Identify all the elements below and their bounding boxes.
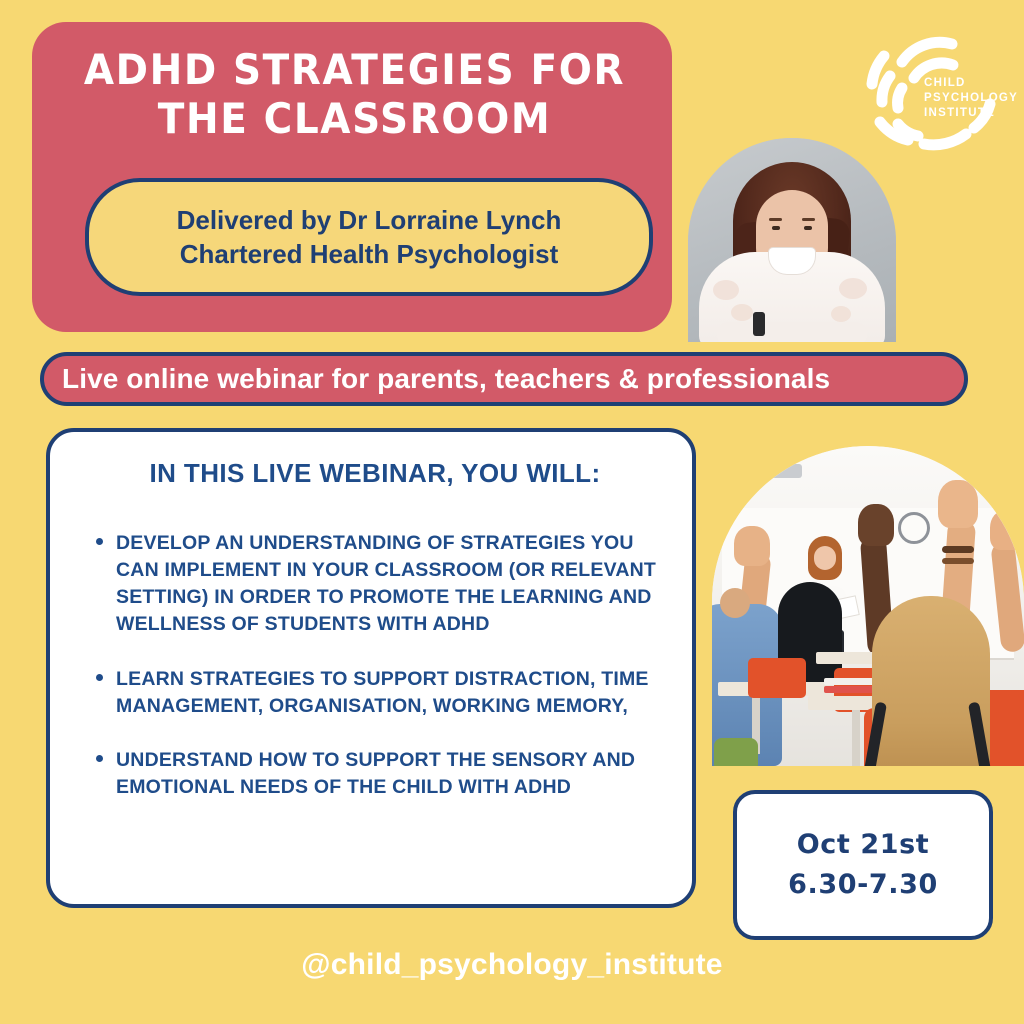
list-item: LEARN STRATEGIES TO SUPPORT DISTRACTION,… <box>74 666 682 720</box>
webinar-banner-text: Live online webinar for parents, teacher… <box>62 363 830 395</box>
speaker-pill: Delivered by Dr Lorraine Lynch Chartered… <box>85 178 653 296</box>
event-date: Oct 21st <box>797 825 930 866</box>
classroom-projector <box>768 464 802 478</box>
list-item-text: LEARN STRATEGIES TO SUPPORT DISTRACTION,… <box>116 668 649 717</box>
foreground-student-hair <box>872 596 990 766</box>
logo-line-3: INSTITUTE <box>924 106 1014 121</box>
bullet-dot-icon <box>96 674 103 681</box>
speaker-role: Chartered Health Psychologist <box>180 237 559 271</box>
portrait-eye-left <box>772 226 780 230</box>
learning-outcomes-list: DEVELOP AN UNDERSTANDING OF STRATEGIES Y… <box>74 530 682 829</box>
learning-outcomes-heading: IN THIS LIVE WEBINAR, YOU WILL: <box>50 458 700 489</box>
student-hand-raised <box>858 504 894 546</box>
social-handle: @child_psychology_institute <box>0 948 1024 982</box>
classroom-desk-leg <box>852 710 860 766</box>
student-bracelet <box>942 558 974 564</box>
list-item-text: DEVELOP AN UNDERSTANDING OF STRATEGIES Y… <box>116 532 656 635</box>
classroom-books <box>824 678 878 685</box>
teacher-face <box>814 546 836 570</box>
page-title: ADHD STRATEGIES FOR THE CLASSROOM <box>32 46 677 144</box>
student-hand-raised <box>938 480 978 528</box>
brand-logo: CHILD PSYCHOLOGY INSTITUTE <box>848 18 1012 158</box>
bullet-dot-icon <box>96 755 103 762</box>
logo-line-2: PSYCHOLOGY <box>924 91 1014 106</box>
classroom-clock-icon <box>898 512 930 544</box>
portrait-watch <box>753 312 765 336</box>
student-blue-shirt-head <box>720 588 750 618</box>
list-item-text: UNDERSTAND HOW TO SUPPORT THE SENSORY AN… <box>116 749 635 798</box>
portrait-blouse <box>699 252 885 342</box>
portrait-collar <box>769 248 815 274</box>
speaker-name: Delivered by Dr Lorraine Lynch <box>177 203 562 237</box>
student-hand-raised <box>990 510 1024 550</box>
portrait-brow-left <box>769 218 782 221</box>
student-hand-raised <box>734 526 770 566</box>
portrait-lace-detail <box>713 280 739 300</box>
logo-line-1: CHILD <box>924 76 1014 91</box>
student-bracelet <box>942 546 974 553</box>
learning-outcomes-card: IN THIS LIVE WEBINAR, YOU WILL: DEVELOP … <box>46 428 696 908</box>
poster-canvas: ADHD STRATEGIES FOR THE CLASSROOM Delive… <box>0 0 1024 1024</box>
bullet-dot-icon <box>96 538 103 545</box>
webinar-banner: Live online webinar for parents, teacher… <box>40 352 968 406</box>
portrait-brow-right <box>802 218 815 221</box>
list-item: UNDERSTAND HOW TO SUPPORT THE SENSORY AN… <box>74 747 682 801</box>
classroom-chair <box>748 658 806 698</box>
portrait-lace-detail <box>839 278 867 299</box>
portrait-folded-arms <box>717 322 867 342</box>
portrait-lace-detail <box>831 306 851 322</box>
presenter-photo <box>688 138 896 342</box>
classroom-backpack <box>714 738 758 766</box>
portrait-lace-detail <box>731 304 753 321</box>
list-item: DEVELOP AN UNDERSTANDING OF STRATEGIES Y… <box>74 530 682 638</box>
event-date-box: Oct 21st 6.30-7.30 <box>733 790 993 940</box>
classroom-photo <box>712 446 1024 766</box>
portrait-eye-right <box>804 226 812 230</box>
event-time: 6.30-7.30 <box>788 865 938 906</box>
classroom-books <box>824 686 878 693</box>
logo-wordmark: CHILD PSYCHOLOGY INSTITUTE <box>924 76 1014 122</box>
